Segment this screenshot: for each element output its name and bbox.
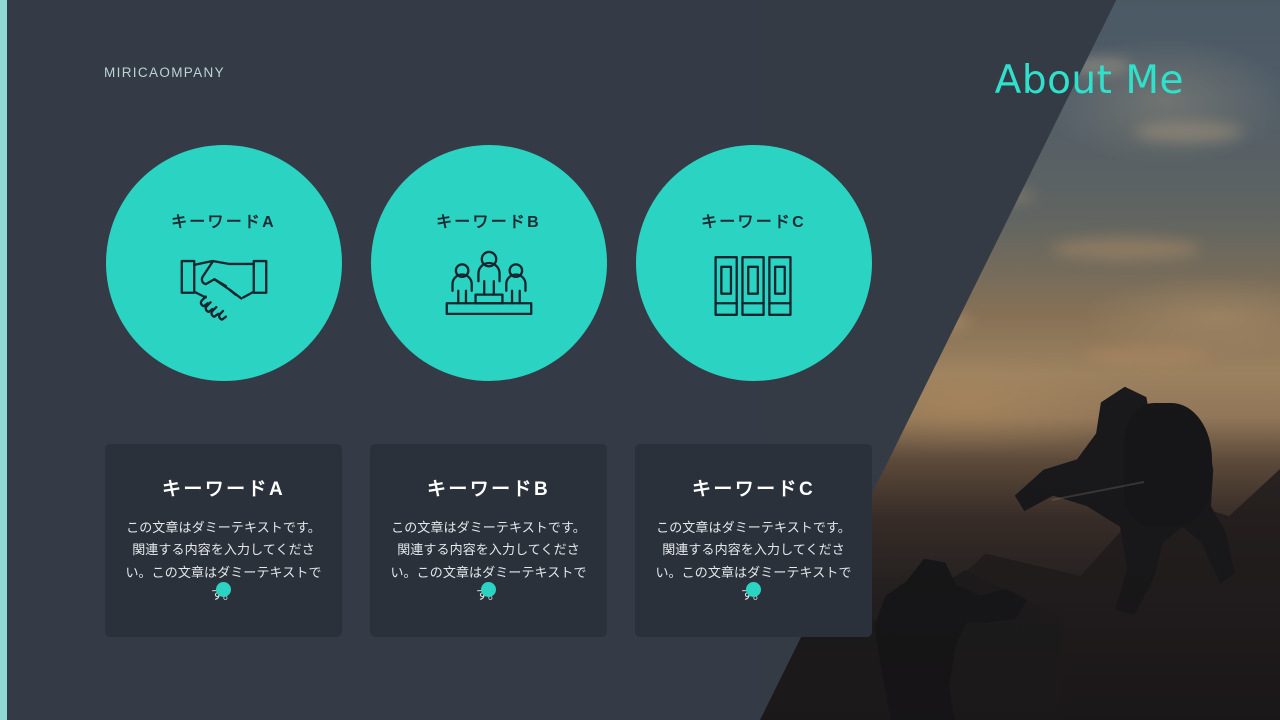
- slide-canvas: MIRICAOMPANY About Me キーワードA: [0, 0, 1280, 720]
- card-title-c: キーワードC: [655, 474, 852, 501]
- card-title-b: キーワードB: [390, 474, 587, 501]
- connector-dot-a: [216, 582, 231, 597]
- left-accent-stripe: [0, 0, 7, 720]
- info-card-a[interactable]: キーワードA この文章はダミーテキストです。関連する内容を入力してください。この…: [105, 444, 342, 637]
- connector-dot-c: [746, 582, 761, 597]
- circle-badge-a[interactable]: キーワードA: [106, 145, 342, 381]
- column-c: キーワードC キーワードC この文章はダミーテキストです。関連する内容を入力し: [621, 145, 886, 381]
- circle-badge-c[interactable]: キーワードC: [636, 145, 872, 381]
- column-b: キーワードB キーワードB この文: [356, 145, 621, 381]
- page-title: About Me: [995, 58, 1184, 103]
- circle-label-a: キーワードA: [171, 208, 276, 232]
- books-icon: [706, 244, 802, 328]
- circle-label-b: キーワードB: [436, 208, 541, 232]
- brand-label: MIRICAOMPANY: [104, 65, 225, 80]
- columns-container: キーワードA キーワードA: [0, 0, 1280, 720]
- column-a: キーワードA キーワードA: [91, 145, 356, 381]
- info-card-b[interactable]: キーワードB この文章はダミーテキストです。関連する内容を入力してください。この…: [370, 444, 607, 637]
- circle-label-c: キーワードC: [701, 208, 806, 232]
- card-title-a: キーワードA: [125, 474, 322, 501]
- info-card-c[interactable]: キーワードC この文章はダミーテキストです。関連する内容を入力してください。この…: [635, 444, 872, 637]
- podium-people-icon: [441, 244, 537, 328]
- handshake-icon: [176, 244, 272, 328]
- circle-badge-b[interactable]: キーワードB: [371, 145, 607, 381]
- connector-dot-b: [481, 582, 496, 597]
